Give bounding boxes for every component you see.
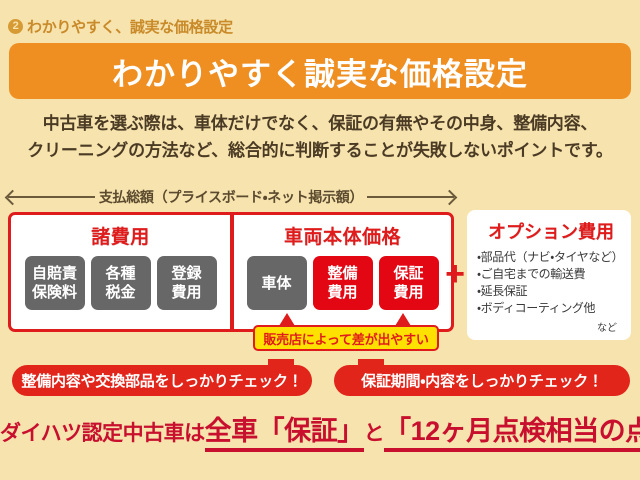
chip-line-2: 保険料 [32,283,77,302]
price-breakdown-group: 諸費用 自賠責 保険料 各種 税金 登録 費用 車両本体価格 [8,212,454,332]
option-cost-box: オプション費用 ・部品代（ナビ・タイヤなど） ・ご自宅までの輸送費 ・延長保証 … [467,210,631,340]
infographic-page: 2 わかりやすく、誠実な価格設定 わかりやすく誠実な価格設定 中古車を選ぶ際は、… [0,0,640,480]
chip-line-1: 自賠責 [32,264,77,283]
variance-callout-wrapper: 販売店によって差が出やすい [253,325,439,351]
banner-tab-icon [358,359,384,369]
vehicle-body-price-title: 車両本体価格 [234,222,451,249]
option-cost-title: オプション費用 [477,218,625,244]
callout-pointer-left-icon [279,313,295,326]
check-banner-maintenance: 整備内容や交換部品をしっかりチェック！ [12,365,312,396]
chip-compulsory-insurance: 自賠責 保険料 [25,256,85,310]
variance-callout: 販売店によって差が出やすい [253,325,439,351]
chip-line-1: 登録 [171,264,201,283]
check-banner-maintenance-text: 整備内容や交換部品をしっかりチェック！ [21,370,302,391]
bottom-headline-part-1: ダイハツ認定中古車は [0,422,205,445]
left-arrow-icon [8,196,95,198]
option-item: ・延長保証 [477,283,625,300]
chip-line-2: 費用 [171,283,201,302]
chip-maintenance-fee: 整備 費用 [313,256,373,310]
total-payment-label: 支払総額（プライスボード・ネット掲示額） [99,187,363,207]
chip-registration-fee: 登録 費用 [157,256,217,310]
option-cost-note: など [477,319,625,334]
bottom-headline-part-3: と [364,422,385,445]
chip-line-2: 税金 [105,283,135,302]
right-arrow-icon [367,196,454,198]
fees-box-title: 諸費用 [11,222,230,249]
section-heading-text: わかりやすく、誠実な価格設定 [27,16,233,37]
plus-icon: + [443,262,467,286]
chip-vehicle-body: 車体 [247,256,307,310]
chip-line-1: 保証 [393,264,423,283]
lead-line-2: クリーニングの方法など、総合的に判断することが失敗しないポイントです。 [0,137,640,164]
chip-line-2: 費用 [393,283,423,302]
check-banner-warranty-text: 保証期間・内容をしっかりチェック！ [361,370,603,391]
chip-various-taxes: 各種 税金 [91,256,151,310]
total-payment-arrow-row: 支払総額（プライスボード・ネット掲示額） [8,186,454,208]
headline-banner: わかりやすく誠実な価格設定 [9,43,631,99]
bottom-headline-emphasis-warranty: 全車「保証」 [205,416,364,452]
chip-line-2: 費用 [327,283,357,302]
chip-line-1: 整備 [327,264,357,283]
chip-warranty-fee: 保証 費用 [379,256,439,310]
option-cost-list: ・部品代（ナビ・タイヤなど） ・ご自宅までの輸送費 ・延長保証 ・ボディコーティ… [477,249,625,317]
option-item: ・ご自宅までの輸送費 [477,266,625,283]
bottom-headline-emphasis-inspection: 「12ヶ月点検相当の点検・整備」 [384,416,640,452]
fees-chip-list: 自賠責 保険料 各種 税金 登録 費用 [11,256,230,310]
headline-banner-text: わかりやすく誠実な価格設定 [112,49,528,94]
option-item: ・ボディコーティング他 [477,300,625,317]
fees-box: 諸費用 自賠責 保険料 各種 税金 登録 費用 [8,212,232,332]
banner-tab-icon [268,359,294,369]
chip-line-1: 各種 [105,264,135,283]
circled-number-two-icon: 2 [8,19,23,34]
vehicle-chip-list: 車体 整備 費用 保証 費用 [234,256,451,310]
chip-line-1: 車体 [261,274,291,293]
vehicle-body-price-box: 車両本体価格 車体 整備 費用 保証 費用 [232,212,454,332]
lead-line-1: 中古車を選ぶ際は、車体だけでなく、保証の有無やその中身、整備内容、 [0,110,640,137]
section-heading: 2 わかりやすく、誠実な価格設定 [8,16,233,37]
lead-paragraph: 中古車を選ぶ際は、車体だけでなく、保証の有無やその中身、整備内容、 クリーニング… [0,110,640,164]
option-item: ・部品代（ナビ・タイヤなど） [477,249,625,266]
callout-pointer-right-icon [395,313,411,326]
bottom-headline: ダイハツ認定中古車は全車「保証」と「12ヶ月点検相当の点検・整備」付き [0,409,640,448]
check-banner-warranty: 保証期間・内容をしっかりチェック！ [334,365,630,396]
